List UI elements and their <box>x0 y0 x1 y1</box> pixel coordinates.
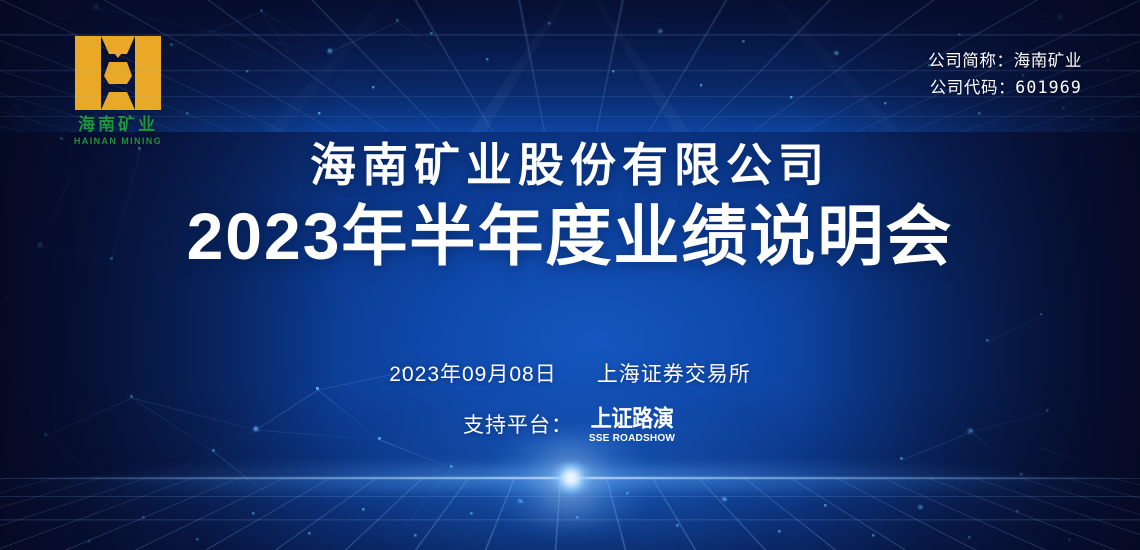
sse-roadshow-name-en: SSE ROADSHOW <box>589 433 675 444</box>
company-code-value: 601969 <box>1015 78 1082 97</box>
hainan-mining-m-monogram-icon <box>75 36 161 110</box>
title-line-event: 2023年半年度业绩说明会 <box>0 198 1140 275</box>
event-poster: 海南矿业 HAINAN MINING 公司简称：海南矿业 公司代码：601969… <box>0 0 1140 550</box>
event-info: 2023年09月08日上海证券交易所 支持平台： 上证路演 SSE ROADSH… <box>0 358 1140 443</box>
company-abbr-row: 公司简称：海南矿业 <box>928 48 1082 75</box>
company-abbr-value: 海南矿业 <box>1014 52 1082 70</box>
company-logo-name-cn: 海南矿业 <box>52 116 184 133</box>
support-platform-row: 支持平台： 上证路演 SSE ROADSHOW <box>0 406 1140 443</box>
event-date: 2023年09月08日 <box>389 363 556 386</box>
sse-roadshow-logo: 上证路演 SSE ROADSHOW <box>587 407 677 444</box>
company-code-label: 公司代码： <box>930 79 1016 97</box>
company-meta: 公司简称：海南矿业 公司代码：601969 <box>928 48 1082 101</box>
sse-roadshow-name-cn: 上证路演 <box>591 407 674 430</box>
company-logo: 海南矿业 HAINAN MINING <box>52 36 184 146</box>
event-venue: 上海证券交易所 <box>597 363 751 386</box>
title-line-company: 海南矿业股份有限公司 <box>0 140 1140 192</box>
support-platform-label: 支持平台： <box>463 409 573 439</box>
event-date-venue-row: 2023年09月08日上海证券交易所 <box>0 358 1140 388</box>
company-abbr-label: 公司简称： <box>928 52 1014 70</box>
lens-flare-core <box>548 462 594 494</box>
page-title: 海南矿业股份有限公司 2023年半年度业绩说明会 <box>0 140 1140 274</box>
company-code-row: 公司代码：601969 <box>928 75 1082 102</box>
